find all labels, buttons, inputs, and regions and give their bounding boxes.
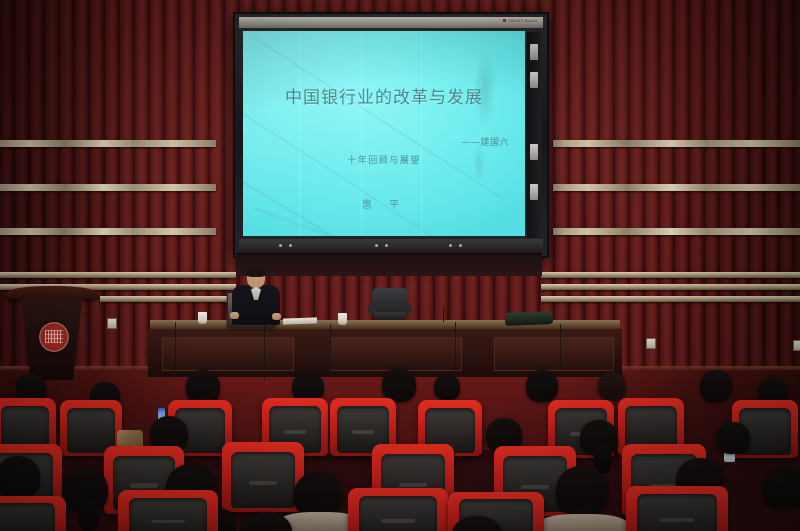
audience-area [0,360,800,531]
empty-chair [368,288,412,326]
seat-c3[interactable] [348,488,448,531]
paper-cup-left [198,312,207,324]
seat-c2[interactable] [118,490,218,531]
wall-trim-stripe-3-right [553,228,800,235]
audience-head-c-7 [762,466,800,508]
speaker-hand-left [230,312,239,319]
seat-handle [660,518,695,522]
documents-on-table [283,317,317,324]
audience-head-front-1 [240,512,292,531]
wall-trim-stripe-lower-left [0,272,236,278]
whiteboard-rail-dot-3 [375,244,378,247]
seat-pad [0,503,55,531]
photo-scene: SMART Board 中国银行业的改革与发展 ——建国六 十年回顾与展望 惠 … [0,0,800,531]
audience-ponytail-c-2 [78,500,100,531]
speaker-hand-right [272,313,281,320]
seat-pad [231,452,295,508]
slide-author: 惠 平 [243,196,525,211]
whiteboard-brand-label: SMART Board [503,18,537,23]
seat-pad [67,408,115,453]
seat-c5[interactable] [626,486,728,531]
seat-handle [521,485,549,490]
whiteboard-pen-tray-button-2[interactable] [530,72,538,88]
whiteboard-bottom-rail [239,239,543,253]
whiteboard-pen-tray-button-4[interactable] [530,184,538,200]
whiteboard-pen-tray-button-3[interactable] [530,144,538,160]
audience-head-c-1 [0,456,40,498]
speaker-hair [246,267,266,277]
whiteboard-rail-dot-1 [279,244,282,247]
wall-socket-right2 [793,340,800,351]
whiteboard-top-rail [239,17,543,28]
wall-socket-right1 [646,338,656,349]
wall-trim-stripe-lower-right [541,272,800,278]
whiteboard-side-bezel[interactable] [527,32,541,238]
wall-trim-stripe-lower3-right [541,296,800,302]
seat-pad [637,494,717,531]
whiteboard-pen-tray-button-1[interactable] [530,44,538,60]
chair-backrest [372,288,408,314]
whiteboard-rail-dot-6 [459,244,462,247]
speaker-person [232,268,280,324]
wall-trim-stripe-lower3-left [100,296,236,302]
wall-trim-stripe-1-left [0,140,216,147]
seat-handle [130,483,157,488]
whiteboard-rail-dot-5 [449,244,452,247]
audience-head-far-5 [382,368,416,402]
slide-title: 中国银行业的改革与发展 [243,83,525,108]
wall-socket-left [107,318,117,329]
wall-trim-stripe-2-left [0,184,216,191]
seat-handle [284,430,306,434]
audience-head-far-7 [526,370,558,402]
seat-handle [381,519,415,523]
audience-head-far-9 [700,370,732,402]
under-board-panel [236,253,542,276]
chair-seat [374,312,406,320]
seat-c1[interactable] [0,496,66,531]
seat-pad [359,496,437,531]
seat-handle [352,430,374,434]
wall-trim-stripe-1-right [553,140,800,147]
seat-handle [399,483,427,488]
seat-b3[interactable] [222,442,304,512]
slide-subtitle-right: ——建国六 [461,135,509,148]
seat-handle [151,520,185,524]
briefcase-on-table [505,311,553,326]
whiteboard-rail-dot-4 [385,244,388,247]
podium-top-surface [6,286,98,299]
audience-head-far-8 [598,372,626,400]
slide-subtitle-center: 十年回顾与展望 [243,153,525,166]
wall-trim-stripe-lower2-right [541,284,800,290]
seat-handle [249,481,277,486]
audience-head-far-6 [434,374,460,400]
audience-head-b-4 [716,422,750,454]
wall-trim-stripe-3-left [0,228,216,235]
brand-square-icon [503,19,506,22]
microphone-stand-2 [443,306,444,322]
seat-pad [129,498,207,531]
interactive-whiteboard[interactable]: SMART Board 中国银行业的改革与发展 ——建国六 十年回顾与展望 惠 … [233,12,549,258]
projection-screen: 中国银行业的改革与发展 ——建国六 十年回顾与展望 惠 平 [243,31,525,236]
wall-trim-stripe-2-right [553,184,800,191]
university-seal-emblem [39,322,69,352]
whiteboard-rail-dot-2 [289,244,292,247]
audience-shoulders-c-5 [538,514,628,531]
